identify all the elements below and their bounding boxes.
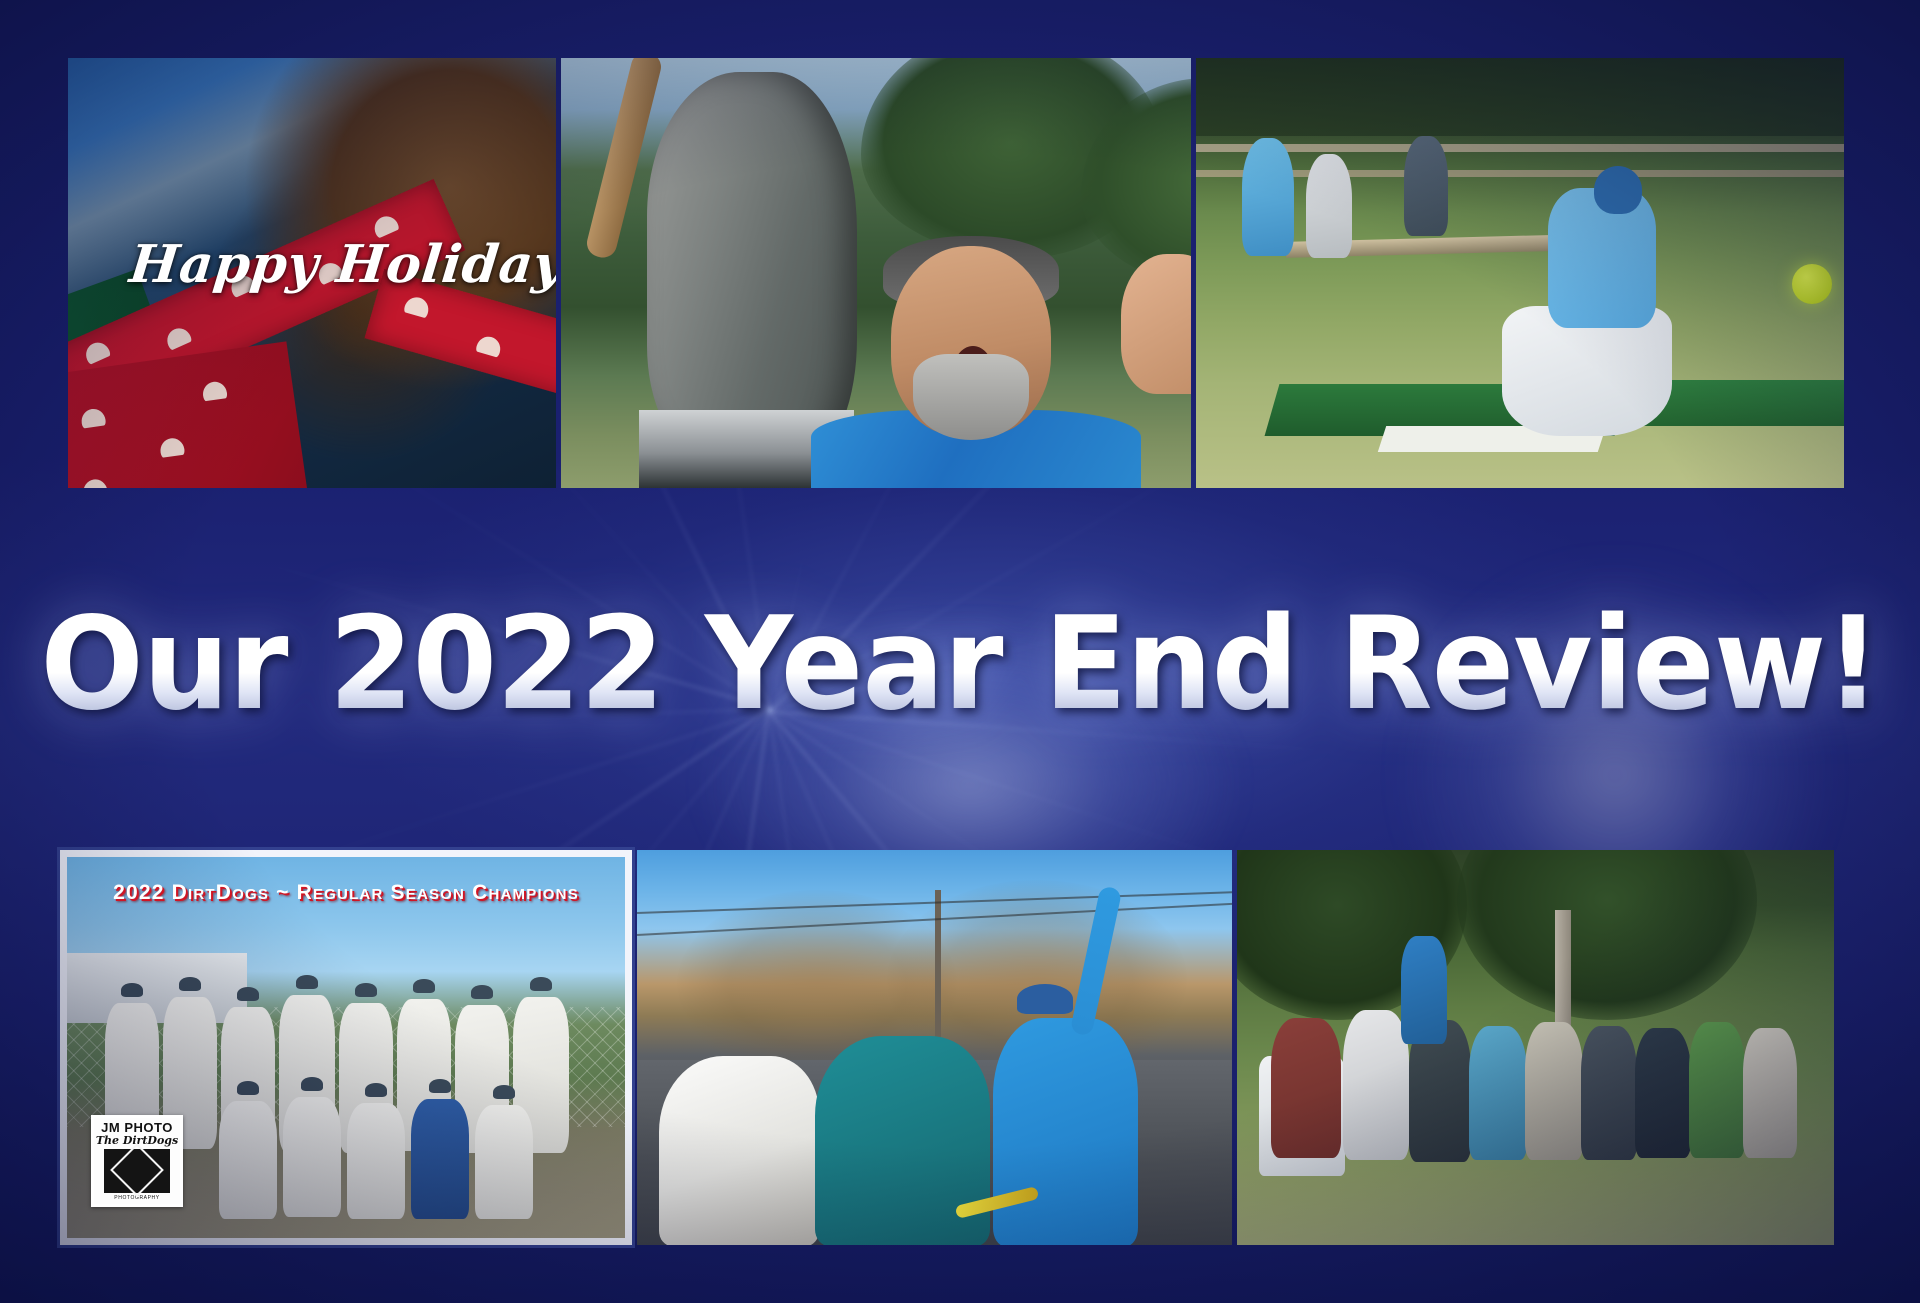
softball	[1792, 264, 1832, 304]
spectator-grey	[1581, 1026, 1637, 1160]
fan-raised-hand	[1121, 254, 1191, 394]
fan-beard	[913, 354, 1029, 440]
happy-holidays-caption: Happy Holidays!	[127, 234, 557, 295]
spectator-3	[1404, 136, 1448, 236]
watermark-line-1: JM PHOTO	[101, 1121, 173, 1134]
light-ray	[338, 708, 770, 725]
light-ray	[223, 550, 771, 710]
batter-statue-photo	[561, 58, 1191, 488]
player-blue-cap	[1017, 984, 1073, 1014]
champions-banner-text: 2022 DirtDogs ~ Regular Season Champions	[113, 881, 579, 905]
shade-tree-2	[1457, 850, 1757, 1020]
dugout-building	[67, 953, 247, 1023]
title-container: Our 2022 Year End Review!	[0, 580, 1920, 750]
treeline	[1196, 58, 1844, 136]
spectator-beige	[1743, 1028, 1797, 1158]
team-champions-photo: 2022 DirtDogs ~ Regular Season Champions…	[60, 850, 632, 1245]
batter-helmet	[1594, 166, 1642, 214]
spectator-blue	[1469, 1026, 1527, 1160]
spectator-2	[1306, 154, 1352, 258]
jm-photo-watermark: JM PHOTO The DirtDogs PHOTOGRAPHY	[91, 1115, 183, 1207]
light-ray	[770, 597, 1225, 712]
batter-swing-photo	[1196, 58, 1844, 488]
spectator-tan	[1525, 1022, 1583, 1160]
player-catching	[659, 1056, 819, 1245]
player-front-2	[283, 1097, 341, 1217]
light-ray	[770, 710, 1374, 755]
holiday-glove-photo: Happy Holidays!	[68, 58, 556, 488]
spectator-white	[1343, 1010, 1409, 1160]
spectator-green	[1689, 1022, 1745, 1158]
player-front-3	[347, 1103, 405, 1219]
field-fence-rail	[1196, 144, 1844, 152]
player-front-4	[411, 1099, 469, 1219]
player-front-1	[219, 1101, 277, 1219]
statue-figure	[647, 72, 857, 452]
spectator-1	[1242, 138, 1294, 256]
player-front-5	[475, 1105, 533, 1219]
player-pointing	[993, 1018, 1138, 1245]
top-photo-row: Happy Holidays!	[68, 58, 1844, 488]
field-celebration-photo	[637, 850, 1232, 1245]
spectator-maroon	[1271, 1018, 1341, 1158]
light-rays	[770, 710, 772, 712]
year-end-review-collage: Happy Holidays!	[0, 0, 1920, 1303]
spectator-navy	[1635, 1028, 1691, 1158]
standing-spectator	[1401, 936, 1447, 1044]
page-title: Our 2022 Year End Review!	[40, 601, 1879, 729]
baseball-diamond-icon	[104, 1149, 170, 1193]
crowd-spectators-photo	[1237, 850, 1834, 1245]
champions-banner: 2022 DirtDogs ~ Regular Season Champions	[67, 871, 625, 915]
bottom-photo-row: 2022 DirtDogs ~ Regular Season Champions…	[60, 850, 1844, 1245]
